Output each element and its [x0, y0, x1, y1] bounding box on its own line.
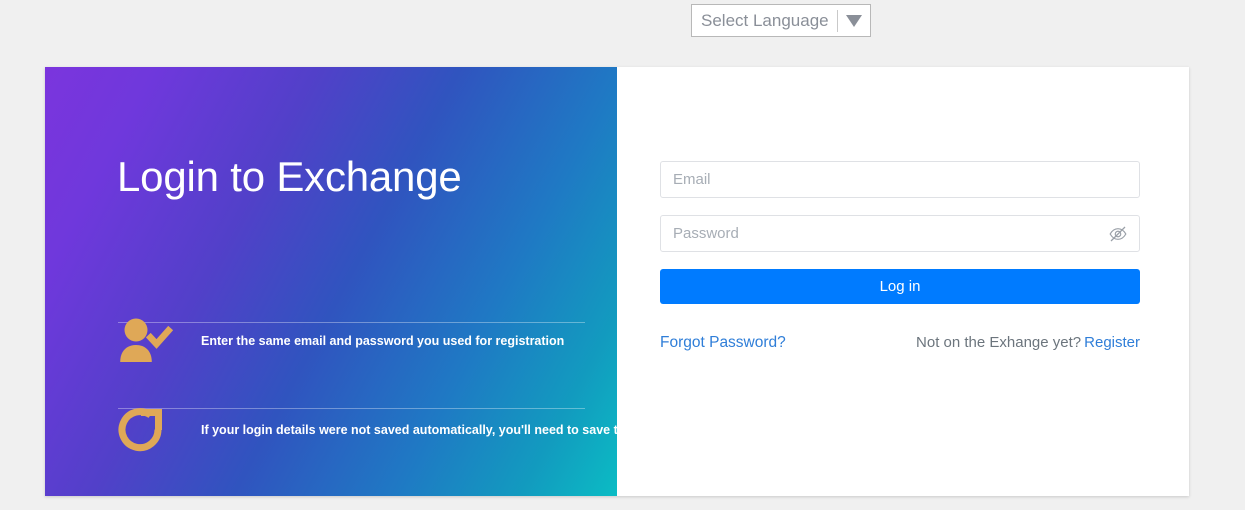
- login-card: Login to Exchange Enter the same email a…: [45, 67, 1189, 496]
- redo-arrow-icon: [117, 405, 179, 455]
- password-input[interactable]: [661, 216, 1139, 251]
- email-input[interactable]: [661, 162, 1139, 197]
- feature-item-registration: Enter the same email and password you us…: [117, 317, 587, 365]
- login-button-label: Log in: [880, 278, 921, 295]
- language-select[interactable]: Select Language: [691, 4, 871, 37]
- feature-text: Enter the same email and password you us…: [179, 333, 564, 349]
- login-button[interactable]: Log in: [660, 269, 1140, 304]
- feature-item-save-details: If your login details were not saved aut…: [117, 405, 587, 455]
- register-prompt-text: Not on the Exhange yet?: [916, 334, 1081, 351]
- chevron-down-icon[interactable]: [838, 15, 870, 27]
- user-check-icon: [117, 317, 179, 365]
- login-form-panel: Log in Forgot Password? Not on the Exhan…: [617, 67, 1189, 496]
- feature-text: If your login details were not saved aut…: [179, 422, 617, 438]
- form-links-row: Forgot Password? Not on the Exhange yet?…: [660, 334, 1140, 352]
- top-language-bar: Select Language: [0, 0, 1245, 44]
- promo-panel: Login to Exchange Enter the same email a…: [45, 67, 617, 496]
- language-select-label: Select Language: [692, 11, 837, 31]
- password-field-wrapper[interactable]: [660, 215, 1140, 252]
- login-form: Log in Forgot Password? Not on the Exhan…: [660, 161, 1140, 352]
- forgot-password-link[interactable]: Forgot Password?: [660, 334, 786, 352]
- register-link[interactable]: Register: [1084, 334, 1140, 351]
- register-prompt-group: Not on the Exhange yet?Register: [916, 334, 1140, 351]
- eye-slash-icon[interactable]: [1107, 223, 1129, 245]
- email-field-wrapper[interactable]: [660, 161, 1140, 198]
- page-title: Login to Exchange: [117, 153, 462, 201]
